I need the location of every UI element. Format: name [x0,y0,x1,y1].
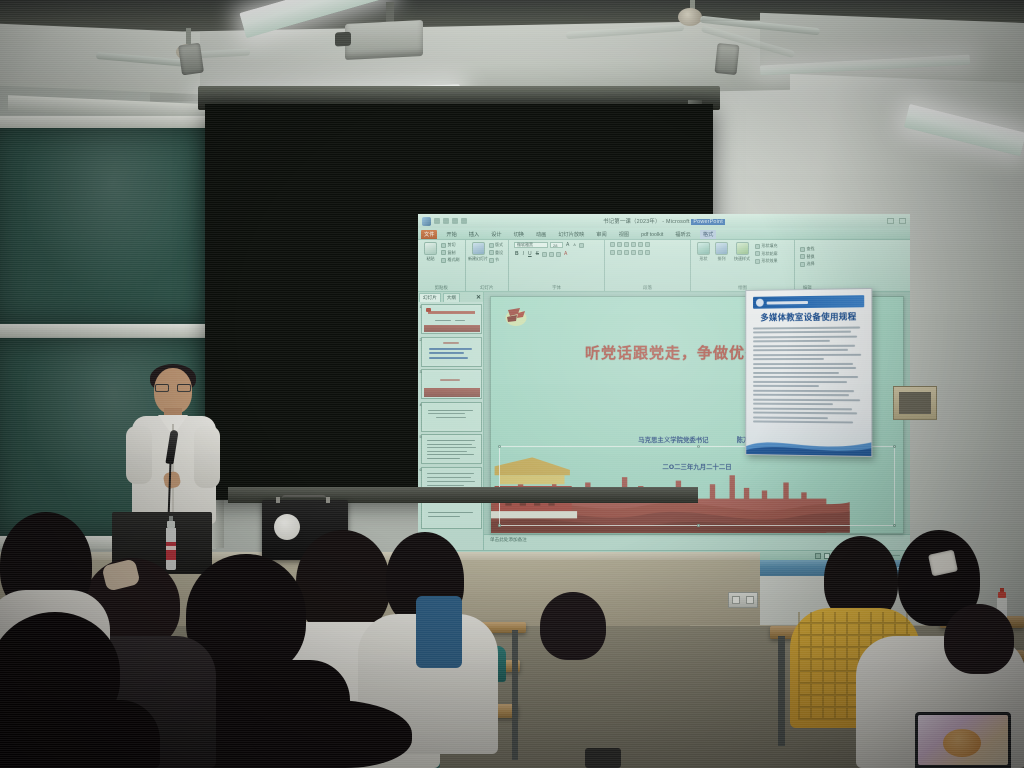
tab-pdf-toolkit[interactable]: pdf toolkit [638,231,666,239]
case-handle [282,495,326,501]
clear-formatting-icon[interactable] [579,243,584,248]
quick-styles-icon [736,242,749,255]
list-item[interactable]: 4 [421,402,482,432]
restore-button[interactable] [899,218,906,224]
align-left-icon[interactable] [610,250,615,255]
wall-speaker [178,43,204,76]
ribbon[interactable]: 粘贴 剪切 复制 [418,240,910,292]
ribbon-group-drawing: 形状 排列 快速样式 [690,240,794,291]
party-emblem-icon [503,306,529,328]
desk-leg [778,636,785,746]
wall-speaker [714,43,739,75]
bold-button[interactable]: B [514,251,520,257]
ribbon-group-clipboard: 粘贴 剪切 复制 [418,240,465,291]
reset-icon [489,250,494,255]
list-item[interactable]: 2 [421,337,482,367]
tab-slideshow[interactable]: 幻灯片放映 [555,230,587,239]
indent-increase-icon[interactable] [631,242,636,247]
slide-number: 6 [420,468,422,472]
layout-button[interactable]: 版式 [489,242,504,248]
tab-design[interactable]: 设计 [488,230,504,239]
case-clasp [326,497,330,503]
quick-styles-button[interactable]: 快速样式 [732,242,752,262]
list-item[interactable]: 5 [421,434,482,464]
selection-box[interactable] [499,446,895,526]
desk-leg [512,630,518,760]
water-bottle [164,516,178,572]
font-color-button[interactable]: A [563,251,568,257]
shape-fill-button[interactable]: 形状填充 [755,243,778,249]
tab-file[interactable]: 文件 [421,230,437,239]
ribbon-group-paragraph: 段落 [604,240,690,291]
arrange-icon [715,242,728,255]
wall-poster: 多媒体教室设备使用规程 [745,288,872,457]
underline-button[interactable]: U [527,251,533,257]
wall-power-outlet [728,592,758,608]
backpack [416,596,462,668]
window-controls[interactable] [887,218,906,224]
slide-number: 1 [420,305,422,309]
indent-decrease-icon[interactable] [624,242,629,247]
audience-head [540,592,606,660]
slide-thumbnail-preview [424,404,480,429]
poster-footer-wave [746,428,872,456]
chalkboard-panel-upper [0,128,210,324]
tab-slides[interactable]: 幻灯片 [419,293,441,302]
text-shadow-icon[interactable] [542,252,547,257]
powerpoint-titlebar: 书记第一课（2023年） - Microsoft PowerPoint [418,214,910,228]
format-painter-button[interactable]: 格式刷 [441,257,460,263]
slide-thumbnail-preview [424,437,480,462]
copy-icon [441,250,446,255]
slide-thumbnail-preview [424,502,480,527]
scissors-icon [441,243,446,248]
floor-equipment [585,748,621,768]
audience-head [296,530,390,634]
shapes-button[interactable]: 形状 [696,242,711,262]
new-slide-icon [472,242,485,255]
shape-outline-button[interactable]: 形状轮廓 [755,251,778,257]
align-right-icon[interactable] [624,250,629,255]
audience-torso [0,700,160,768]
tab-animations[interactable]: 动画 [533,230,549,239]
section-icon [489,258,494,263]
ribbon-group-font: 微软雅黑 28 A A B I U S [508,240,604,291]
chalkboard-rail [0,324,216,337]
character-spacing-icon[interactable] [549,252,554,257]
window-title: 书记第一课（2023年） - Microsoft PowerPoint [418,217,910,225]
audience-head [252,700,412,768]
tab-insert[interactable]: 插入 [466,230,482,239]
reset-button[interactable]: 重设 [489,250,504,256]
cut-button[interactable]: 剪切 [441,242,460,248]
format-painter-icon [441,258,446,263]
italic-button[interactable]: I [522,251,525,257]
decrease-font-size-icon[interactable]: A [572,243,576,247]
numbering-icon[interactable] [617,242,622,247]
ribbon-group-label: 字体 [509,285,604,291]
audience-head [944,604,1014,674]
ribbon-group-label: 幻灯片 [466,285,509,291]
find-icon [800,247,805,252]
slide-number: 3 [420,370,422,374]
paste-button[interactable]: 粘贴 [423,242,438,262]
list-item[interactable]: 7 [421,499,482,529]
close-panel-button[interactable]: ✕ [476,294,482,301]
ribbon-group-editing: 查找 替换 选择 编辑 [794,240,820,291]
ceiling-projector [345,20,423,60]
eyeglasses-icon [155,384,191,392]
paste-icon [424,242,437,255]
list-item[interactable]: 1 [421,304,482,334]
normal-view-icon[interactable] [815,553,821,559]
justify-icon[interactable] [631,250,636,255]
slide-thumbnail-preview [424,307,480,332]
font-name-box[interactable]: 微软雅黑 [514,242,548,248]
ribbon-group-label: 剪贴板 [418,285,465,291]
tab-view[interactable]: 视图 [616,230,632,239]
tab-home[interactable]: 开始 [443,230,459,239]
ribbon-tabbar[interactable]: 文件 开始 插入 设计 切换 动画 幻灯片放映 审阅 视图 pdf toolki… [418,228,910,240]
speaker-right-arm [194,426,220,488]
poster-header-band [753,295,864,309]
section-button[interactable]: 节 [489,257,504,263]
poster-body-text [753,326,864,423]
copy-button[interactable]: 复制 [441,250,460,256]
font-size-box[interactable]: 28 [550,242,563,248]
projection-screen: 书记第一课（2023年） - Microsoft PowerPoint 文件 开… [205,104,713,500]
slide-number: 2 [420,338,422,342]
increase-font-size-icon[interactable]: A [565,242,570,248]
slide-number: 4 [420,403,422,407]
layout-icon [489,243,494,248]
slide-thumbnail-preview [424,372,480,397]
align-center-icon[interactable] [617,250,622,255]
tab-transitions[interactable]: 切换 [511,230,527,239]
text-direction-icon[interactable] [645,242,650,247]
shape-effects-button[interactable]: 形状效果 [755,258,778,264]
replace-button[interactable]: 替换 [800,254,815,260]
arrange-button[interactable]: 排列 [714,242,729,262]
slide-thumbnail-panel[interactable]: 幻灯片 大纲 ✕ 1 [418,292,484,550]
find-button[interactable]: 查找 [800,246,815,252]
poster-org-name [767,301,808,305]
slide-number: 5 [420,435,422,439]
change-case-icon[interactable] [556,252,561,257]
slide-panel-tabs[interactable]: 幻灯片 大纲 ✕ [418,292,483,302]
list-item[interactable]: 3 [421,369,482,399]
ribbon-group-slides: 新建幻灯片 版式 重设 [465,240,509,291]
student-laptop [915,712,1011,768]
shape-fill-icon [755,244,760,249]
tab-foxit-cloud[interactable]: 福昕云 [672,230,694,239]
minimize-button[interactable] [887,218,894,224]
ribbon-group-label: 段落 [605,285,690,291]
case-clasp [276,497,280,503]
new-slide-button[interactable]: 新建幻灯片 [471,242,486,262]
align-text-icon[interactable] [645,250,650,255]
bullets-icon[interactable] [610,242,615,247]
strikethrough-button[interactable]: S [535,251,540,257]
tab-outline[interactable]: 大纲 [443,293,460,302]
slide-thumbnail-preview [424,339,480,364]
wall-access-panel [893,386,937,420]
poster-title: 多媒体教室设备使用规程 [753,310,864,323]
tab-format[interactable]: 格式 [700,230,716,239]
university-seal-icon [756,299,764,307]
shape-outline-icon [755,251,760,256]
shape-effects-icon [755,259,760,264]
speaker-left-arm [126,426,152,484]
select-icon [800,262,805,267]
select-button[interactable]: 选择 [800,261,815,267]
laptop-screen [918,715,1008,765]
line-spacing-icon[interactable] [638,242,643,247]
slide-thumbnail-list[interactable]: 1 2 [418,302,483,550]
replace-icon [800,254,805,259]
tab-review[interactable]: 审阅 [593,230,609,239]
columns-icon[interactable] [638,250,643,255]
classroom-photo-scene: 书记第一课（2023年） - Microsoft PowerPoint 文件 开… [0,0,1024,768]
case-logo-badge [274,514,300,540]
shapes-icon [697,242,710,255]
